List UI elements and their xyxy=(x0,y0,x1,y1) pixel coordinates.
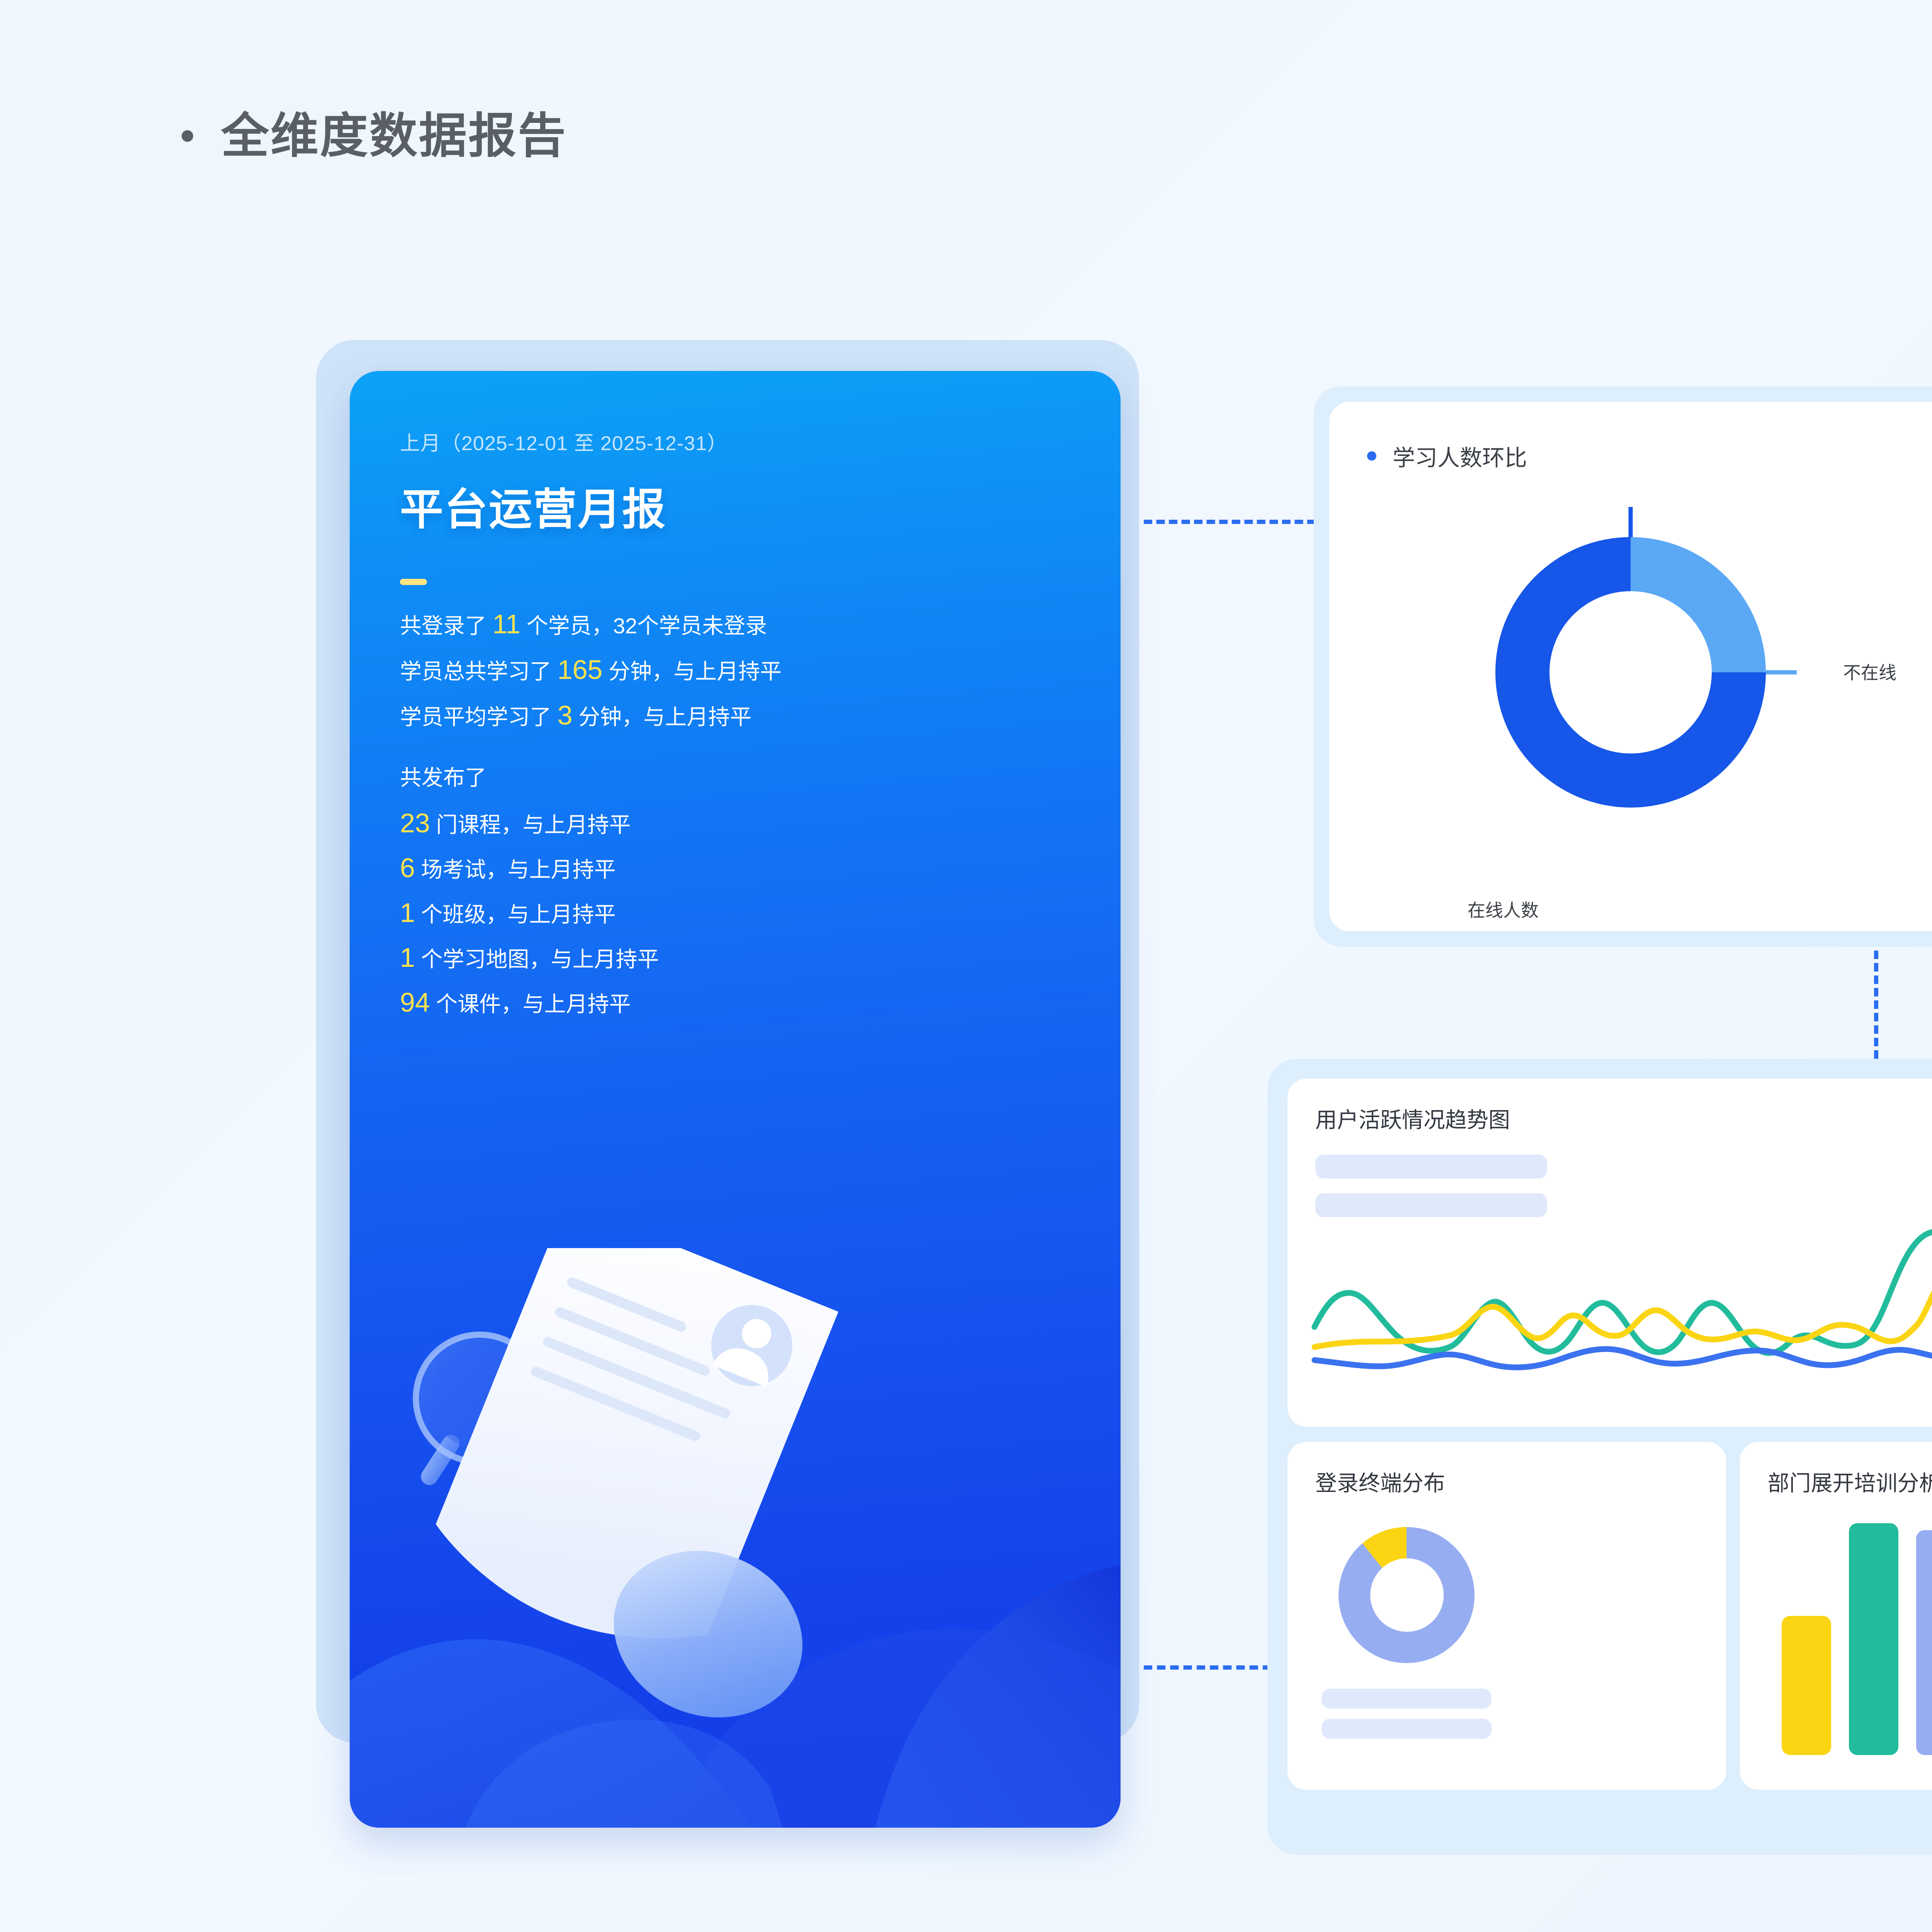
login-terminal-card[interactable]: 登录终端分布 xyxy=(1287,1442,1726,1790)
dashboard-panel: 用户活跃情况趋势图 待办 xyxy=(1267,1059,1932,1855)
publish-row: 1 个班级，与上月持平 xyxy=(400,899,1121,926)
publish-number: 23 xyxy=(400,808,430,838)
bar-1 xyxy=(1782,1616,1831,1755)
magnifier-document-illustration xyxy=(350,1248,1121,1828)
monthly-report-card[interactable]: 上月（2025-12-01 至 2025-12-31） 平台运营月报 共登录了 … xyxy=(350,371,1121,1828)
donut-segment-primary xyxy=(1338,1527,1475,1663)
stat-row: 学员平均学习了 3 分钟，与上月持平 xyxy=(400,702,1121,729)
publish-row: 6 场考试，与上月持平 xyxy=(400,854,1121,881)
report-period: 上月（2025-12-01 至 2025-12-31） xyxy=(400,427,1121,456)
publish-lead: 共发布了 xyxy=(400,760,1121,792)
stat-number: 11 xyxy=(493,609,521,639)
stat-number: 3 xyxy=(558,700,573,730)
page-heading: 全维度数据报告 xyxy=(182,112,567,160)
card-title-terminal: 登录终端分布 xyxy=(1315,1466,1445,1497)
bar-3 xyxy=(1916,1530,1932,1755)
terminal-placeholder-lines xyxy=(1321,1689,1492,1749)
publish-row: 94 个课件，与上月持平 xyxy=(400,989,1121,1016)
department-bar-chart xyxy=(1782,1523,1932,1755)
publish-row: 1 个学习地图，与上月持平 xyxy=(400,944,1121,971)
page-title: 全维度数据报告 xyxy=(221,112,567,160)
publish-number: 6 xyxy=(400,853,415,883)
bullet-dot-icon xyxy=(182,130,193,142)
learner-ratio-donut-chart[interactable]: 不在线 在线人数 xyxy=(1457,498,1804,846)
donut-segment-offline xyxy=(1631,537,1766,672)
stat-number: 165 xyxy=(558,655,603,685)
user-activity-trend-card[interactable]: 用户活跃情况趋势图 xyxy=(1287,1079,1932,1427)
analytics-top-panel: 学习人数环比 合规率 不在线 在线人数 xyxy=(1314,386,1932,947)
publish-number: 1 xyxy=(400,898,415,928)
bullet-dot-icon xyxy=(1367,451,1376,461)
connector-card-to-dashboard xyxy=(1144,1665,1271,1670)
card-title-department: 部门展开培训分析 xyxy=(1768,1466,1932,1497)
department-training-card[interactable]: 部门展开培训分析 xyxy=(1740,1442,1932,1790)
bar-2 xyxy=(1849,1523,1898,1755)
card-title-trend: 用户活跃情况趋势图 xyxy=(1315,1103,1510,1134)
donut-label-online: 在线人数 xyxy=(1468,896,1539,922)
chart-title-learner-ratio: 学习人数环比 xyxy=(1367,440,1932,472)
publish-number: 94 xyxy=(400,987,430,1017)
title-divider xyxy=(400,579,427,585)
donut-label-offline: 不在线 xyxy=(1843,659,1896,684)
login-stats-list: 共登录了 11 个学员，32个学员未登录 学员总共学习了 165 分钟，与上月持… xyxy=(400,611,1121,729)
report-title: 平台运营月报 xyxy=(400,474,1121,537)
stat-row: 共登录了 11 个学员，32个学员未登录 xyxy=(400,611,1121,638)
terminal-donut-chart[interactable] xyxy=(1329,1518,1484,1672)
connector-top-panel-to-dashboard xyxy=(1874,951,1878,1059)
stat-row: 学员总共学习了 165 分钟，与上月持平 xyxy=(400,656,1121,683)
connector-card-to-top-panel xyxy=(1144,520,1316,524)
publish-row: 23 门课程，与上月持平 xyxy=(400,810,1121,837)
trend-line-chart xyxy=(1307,1211,1932,1377)
publish-number: 1 xyxy=(400,942,415,973)
publish-stats-list: 23 门课程，与上月持平 6 场考试，与上月持平 1 个班级，与上月持平 1 个… xyxy=(400,810,1121,1016)
